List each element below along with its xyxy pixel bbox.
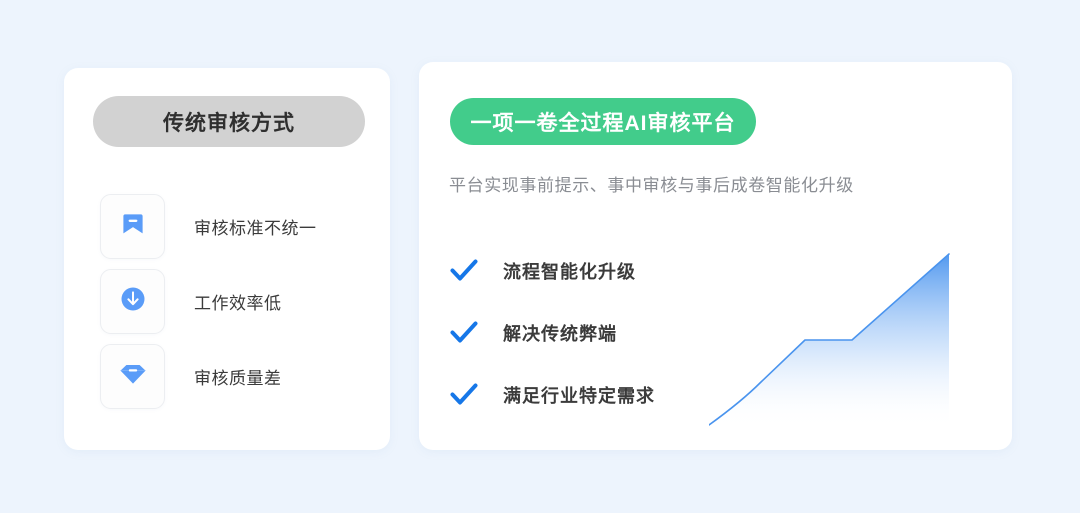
- list-item-label: 流程智能化升级: [503, 258, 636, 284]
- diamond-minus-icon: [119, 361, 147, 392]
- list-item-label: 解决传统弊端: [503, 320, 617, 346]
- check-icon: [449, 380, 479, 410]
- arrow-down-circle-icon: [120, 286, 146, 317]
- problem-icon-tile: [100, 194, 165, 259]
- check-icon: [449, 318, 479, 348]
- ai-platform-title-pill: 一项一卷全过程AI审核平台: [450, 98, 756, 145]
- list-item: 工作效率低: [100, 268, 370, 335]
- list-item: 审核质量差: [100, 343, 370, 410]
- list-item: 解决传统弊端: [449, 302, 749, 364]
- feature-list: 流程智能化升级 解决传统弊端 满足行业特定需求: [449, 240, 749, 426]
- problem-icon-tile: [100, 344, 165, 409]
- problem-list: 审核标准不统一 工作效率低: [100, 193, 370, 418]
- list-item: 满足行业特定需求: [449, 364, 749, 426]
- ai-platform-card: 一项一卷全过程AI审核平台 平台实现事前提示、事中审核与事后成卷智能化升级: [419, 62, 1012, 450]
- bookmark-minus-icon: [120, 211, 146, 242]
- list-item-label: 审核标准不统一: [194, 214, 317, 239]
- list-item-label: 满足行业特定需求: [503, 382, 655, 408]
- problem-icon-tile: [100, 269, 165, 334]
- list-item-label: 工作效率低: [194, 289, 282, 314]
- traditional-method-title-pill: 传统审核方式: [93, 96, 365, 147]
- list-item: 审核标准不统一: [100, 193, 370, 260]
- growth-area-chart: [709, 222, 999, 432]
- list-item-label: 审核质量差: [194, 364, 282, 389]
- platform-subtitle: 平台实现事前提示、事中审核与事后成卷智能化升级: [449, 171, 854, 196]
- traditional-method-card: 传统审核方式 审核标准不统一: [64, 68, 390, 450]
- list-item: 流程智能化升级: [449, 240, 749, 302]
- check-icon: [449, 256, 479, 286]
- page-root: 传统审核方式 审核标准不统一: [0, 0, 1080, 513]
